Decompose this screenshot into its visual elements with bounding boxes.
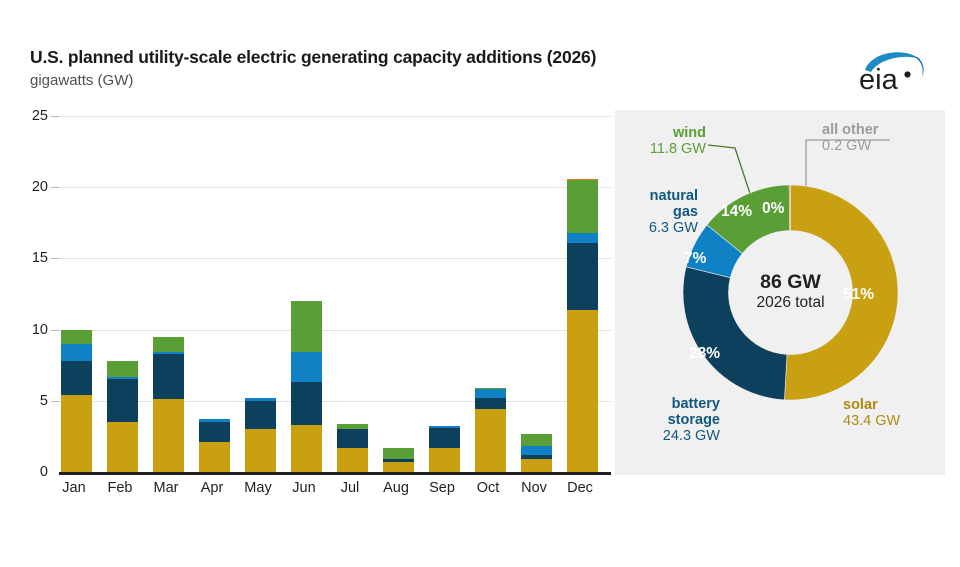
bar-segment-natural-gas-jan bbox=[61, 344, 92, 361]
bar-stack-apr bbox=[199, 419, 230, 472]
bar-apr bbox=[199, 116, 230, 472]
xtick-label-dec: Dec bbox=[557, 480, 603, 496]
bar-stack-jun bbox=[291, 301, 322, 472]
xtick-label-aug: Aug bbox=[373, 480, 419, 496]
donut-label-natural-gas-name-1: natural bbox=[608, 188, 698, 204]
donut-label-natural-gas: natural gas 6.3 GW bbox=[608, 188, 698, 237]
bar-segment-battery-storage-jun bbox=[291, 382, 322, 425]
donut-label-natural-gas-value: 6.3 GW bbox=[608, 220, 698, 236]
bar-aug bbox=[383, 116, 414, 472]
ytick-label-5: 5 bbox=[8, 393, 48, 409]
donut-label-all-other: all other 0.2 GW bbox=[822, 122, 878, 154]
bar-stack-nov bbox=[521, 434, 552, 472]
bar-segment-battery-storage-apr bbox=[199, 422, 230, 442]
bar-segment-solar-nov bbox=[521, 459, 552, 472]
ytick-label-0: 0 bbox=[8, 464, 48, 480]
donut-pct-other: 0% bbox=[762, 200, 784, 218]
donut-label-solar-name: solar bbox=[843, 397, 900, 413]
xtick-label-oct: Oct bbox=[465, 480, 511, 496]
bar-segment-battery-storage-may bbox=[245, 401, 276, 429]
bar-segment-solar-mar bbox=[153, 399, 184, 472]
bar-segment-battery-storage-feb bbox=[107, 379, 138, 422]
chart-canvas: U.S. planned utility-scale electric gene… bbox=[0, 0, 960, 567]
bar-segment-battery-storage-mar bbox=[153, 354, 184, 400]
bar-stack-sep bbox=[429, 426, 460, 472]
donut-label-all-other-value: 0.2 GW bbox=[822, 138, 878, 154]
donut-label-wind: wind 11.8 GW bbox=[608, 125, 706, 157]
bar-jun bbox=[291, 116, 322, 472]
donut-label-battery-storage-name-2: storage bbox=[620, 412, 720, 428]
bar-stack-oct bbox=[475, 388, 506, 472]
ytick-mark-5 bbox=[51, 401, 59, 402]
xtick-label-may: May bbox=[235, 480, 281, 496]
chart-units-subtitle: gigawatts (GW) bbox=[30, 72, 133, 89]
bar-segment-natural-gas-oct bbox=[475, 389, 506, 398]
bar-segment-solar-oct bbox=[475, 409, 506, 472]
bar-segment-solar-feb bbox=[107, 422, 138, 472]
donut-label-wind-value: 11.8 GW bbox=[608, 141, 706, 157]
bar-sep bbox=[429, 116, 460, 472]
bar-stack-aug bbox=[383, 448, 414, 472]
bar-segment-battery-storage-dec bbox=[567, 243, 598, 310]
bar-stack-jan bbox=[61, 330, 92, 472]
ytick-label-10: 10 bbox=[8, 322, 48, 338]
bar-nov bbox=[521, 116, 552, 472]
xtick-label-jun: Jun bbox=[281, 480, 327, 496]
bar-may bbox=[245, 116, 276, 472]
bar-segment-battery-storage-sep bbox=[429, 428, 460, 448]
donut-label-battery-storage-value: 24.3 GW bbox=[620, 428, 720, 444]
bar-chart: 25 20 15 10 5 0 Jan Feb Mar Apr May Jun … bbox=[0, 100, 615, 515]
donut-pct-solar: 51% bbox=[843, 286, 874, 304]
donut-slice-all-other bbox=[789, 185, 790, 231]
bars-area bbox=[59, 116, 611, 472]
page-title: U.S. planned utility-scale electric gene… bbox=[30, 47, 596, 68]
bar-segment-wind-feb bbox=[107, 361, 138, 377]
bar-segment-natural-gas-jun bbox=[291, 352, 322, 382]
bar-stack-jul bbox=[337, 424, 368, 472]
donut-label-solar-value: 43.4 GW bbox=[843, 413, 900, 429]
xtick-label-sep: Sep bbox=[419, 480, 465, 496]
bar-segment-solar-aug bbox=[383, 462, 414, 472]
eia-logo: eia bbox=[855, 44, 930, 94]
donut-label-battery-storage: battery storage 24.3 GW bbox=[620, 396, 720, 445]
bar-stack-may bbox=[245, 398, 276, 472]
bar-segment-solar-jul bbox=[337, 448, 368, 472]
bar-jan bbox=[61, 116, 92, 472]
donut-pct-wind: 14% bbox=[721, 203, 752, 221]
bar-feb bbox=[107, 116, 138, 472]
bar-segment-solar-sep bbox=[429, 448, 460, 472]
bar-segment-solar-jun bbox=[291, 425, 322, 472]
bar-oct bbox=[475, 116, 506, 472]
donut-label-all-other-name: all other bbox=[822, 122, 878, 138]
xtick-label-apr: Apr bbox=[189, 480, 235, 496]
eia-logo-text: eia bbox=[859, 64, 899, 94]
bar-stack-feb bbox=[107, 361, 138, 472]
xtick-label-jan: Jan bbox=[51, 480, 97, 496]
bar-segment-solar-may bbox=[245, 429, 276, 472]
x-axis-baseline bbox=[59, 472, 611, 475]
xtick-label-feb: Feb bbox=[97, 480, 143, 496]
ytick-mark-25 bbox=[51, 116, 59, 117]
ytick-mark-20 bbox=[51, 187, 59, 188]
ytick-label-25: 25 bbox=[8, 108, 48, 124]
bar-jul bbox=[337, 116, 368, 472]
bar-segment-wind-aug bbox=[383, 448, 414, 459]
donut-label-solar: solar 43.4 GW bbox=[843, 397, 900, 429]
xtick-label-jul: Jul bbox=[327, 480, 373, 496]
bar-segment-solar-apr bbox=[199, 442, 230, 472]
bar-segment-natural-gas-nov bbox=[521, 446, 552, 455]
bar-segment-wind-jan bbox=[61, 330, 92, 344]
bar-segment-wind-nov bbox=[521, 434, 552, 447]
bar-segment-natural-gas-dec bbox=[567, 233, 598, 243]
bar-stack-mar bbox=[153, 337, 184, 472]
bar-segment-battery-storage-jan bbox=[61, 361, 92, 395]
donut-label-natural-gas-name-2: gas bbox=[608, 204, 698, 220]
bar-mar bbox=[153, 116, 184, 472]
ytick-mark-10 bbox=[51, 330, 59, 331]
bar-segment-wind-jun bbox=[291, 301, 322, 352]
bar-stack-dec bbox=[567, 179, 598, 472]
donut-label-battery-storage-name-1: battery bbox=[620, 396, 720, 412]
bar-segment-wind-dec bbox=[567, 180, 598, 233]
xtick-label-mar: Mar bbox=[143, 480, 189, 496]
bar-segment-solar-jan bbox=[61, 395, 92, 472]
ytick-mark-15 bbox=[51, 258, 59, 259]
bar-segment-battery-storage-oct bbox=[475, 398, 506, 409]
donut-label-wind-name: wind bbox=[608, 125, 706, 141]
bar-segment-solar-dec bbox=[567, 310, 598, 472]
xtick-label-nov: Nov bbox=[511, 480, 557, 496]
bar-segment-battery-storage-jul bbox=[337, 429, 368, 448]
donut-pct-battery: 28% bbox=[689, 345, 720, 363]
donut-pct-gas: 7% bbox=[684, 250, 706, 268]
ytick-label-15: 15 bbox=[8, 250, 48, 266]
ytick-label-20: 20 bbox=[8, 179, 48, 195]
bar-dec bbox=[567, 116, 598, 472]
bar-segment-wind-mar bbox=[153, 337, 184, 353]
